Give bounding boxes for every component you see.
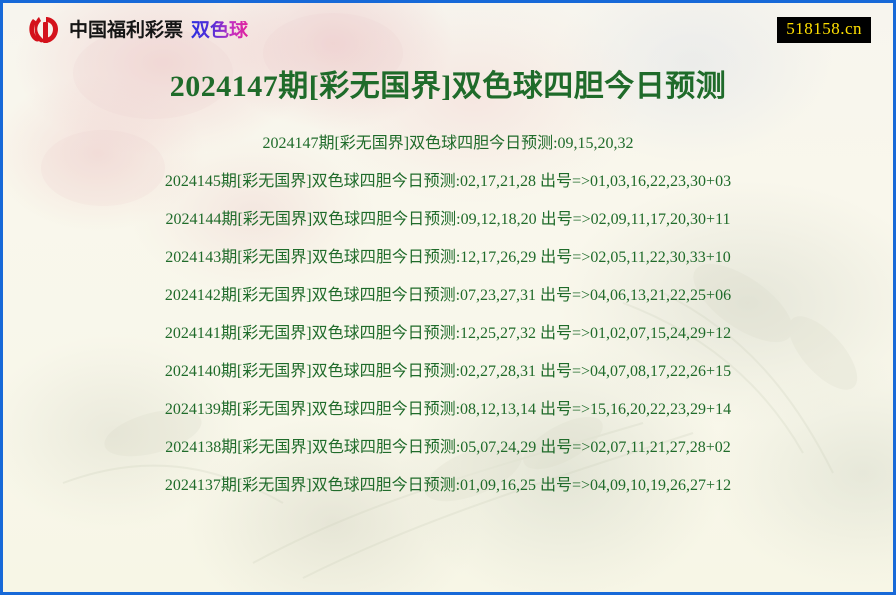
list-item: 2024143期[彩无国界]双色球四胆今日预测:12,17,26,29 出号=>… bbox=[3, 239, 893, 277]
prediction-text: 2024144期[彩无国界]双色球四胆今日预测:09,12,18,20 出号=>… bbox=[166, 201, 731, 239]
list-item: 2024141期[彩无国界]双色球四胆今日预测:12,25,27,32 出号=>… bbox=[3, 315, 893, 353]
prediction-text: 2024147期[彩无国界]双色球四胆今日预测:09,15,20,32 bbox=[262, 125, 633, 163]
list-item: 2024137期[彩无国界]双色球四胆今日预测:01,09,16,25 出号=>… bbox=[3, 467, 893, 505]
prediction-text: 2024143期[彩无国界]双色球四胆今日预测:12,17,26,29 出号=>… bbox=[165, 239, 731, 277]
prediction-text: 2024140期[彩无国界]双色球四胆今日预测:02,27,28,31 出号=>… bbox=[165, 353, 731, 391]
china-welfare-lottery-emblem-icon bbox=[27, 15, 61, 45]
site-domain-badge[interactable]: 518158.cn bbox=[777, 17, 871, 43]
list-item: 2024142期[彩无国界]双色球四胆今日预测:07,23,27,31 出号=>… bbox=[3, 277, 893, 315]
page-title: 2024147期[彩无国界]双色球四胆今日预测 bbox=[3, 61, 893, 105]
logo-text-shuangseqiu: 双色球 bbox=[191, 21, 248, 40]
site-logo[interactable]: 中国福利彩票 双色球 bbox=[27, 15, 248, 45]
prediction-text: 2024139期[彩无国界]双色球四胆今日预测:08,12,13,14 出号=>… bbox=[165, 391, 731, 429]
prediction-list: 2024147期[彩无国界]双色球四胆今日预测:09,15,20,32 2024… bbox=[3, 125, 893, 505]
prediction-text: 2024137期[彩无国界]双色球四胆今日预测:01,09,16,25 出号=>… bbox=[165, 467, 731, 505]
prediction-text: 2024138期[彩无国界]双色球四胆今日预测:05,07,24,29 出号=>… bbox=[165, 429, 731, 467]
site-header: 中国福利彩票 双色球 518158.cn bbox=[3, 3, 893, 51]
list-item: 2024145期[彩无国界]双色球四胆今日预测:02,17,21,28 出号=>… bbox=[3, 163, 893, 201]
list-item: 2024144期[彩无国界]双色球四胆今日预测:09,12,18,20 出号=>… bbox=[3, 201, 893, 239]
prediction-text: 2024142期[彩无国界]双色球四胆今日预测:07,23,27,31 出号=>… bbox=[165, 277, 731, 315]
prediction-text: 2024145期[彩无国界]双色球四胆今日预测:02,17,21,28 出号=>… bbox=[165, 163, 731, 201]
list-item: 2024147期[彩无国界]双色球四胆今日预测:09,15,20,32 bbox=[3, 125, 893, 163]
prediction-text: 2024141期[彩无国界]双色球四胆今日预测:12,25,27,32 出号=>… bbox=[165, 315, 731, 353]
list-item: 2024139期[彩无国界]双色球四胆今日预测:08,12,13,14 出号=>… bbox=[3, 391, 893, 429]
list-item: 2024140期[彩无国界]双色球四胆今日预测:02,27,28,31 出号=>… bbox=[3, 353, 893, 391]
list-item: 2024138期[彩无国界]双色球四胆今日预测:05,07,24,29 出号=>… bbox=[3, 429, 893, 467]
page-root: 中国福利彩票 双色球 518158.cn 2024147期[彩无国界]双色球四胆… bbox=[0, 0, 896, 595]
logo-text-chinese-welfare-lottery: 中国福利彩票 bbox=[69, 21, 183, 40]
